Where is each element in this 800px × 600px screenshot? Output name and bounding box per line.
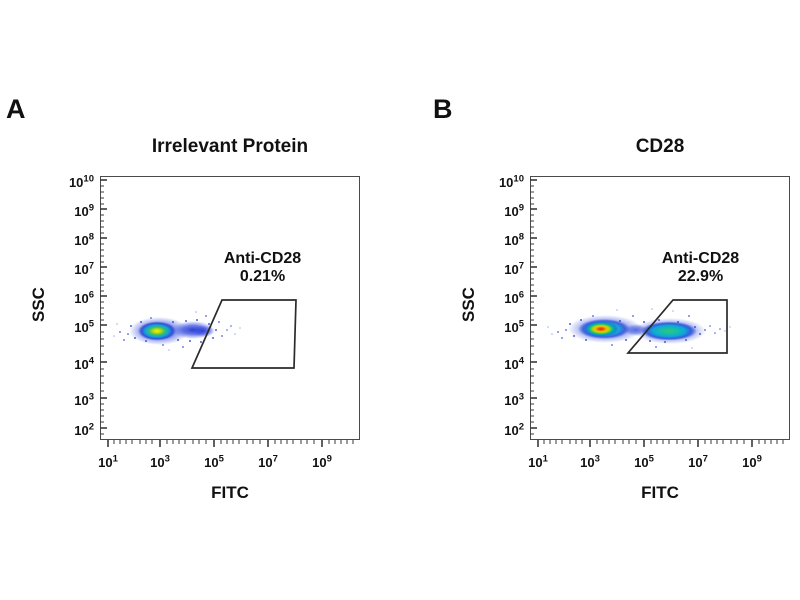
- panel-b-ytick-9: 109: [478, 205, 524, 218]
- panel-a-ytick-4: 104: [48, 358, 94, 371]
- panel-b-ytick-7: 107: [478, 263, 524, 276]
- panel-a-ytick-10: 1010: [48, 176, 94, 189]
- panel-b-gate-percent: 22.9%: [678, 268, 723, 285]
- panel-a-gate-name: Anti-CD28: [224, 250, 301, 267]
- panel-a-ytick-6: 106: [48, 292, 94, 305]
- panel-b-ytick-4: 104: [478, 358, 524, 371]
- panel-a-gate-label: Anti-CD28 0.21%: [190, 250, 335, 286]
- panel-b-y-axis-label: SSC: [460, 282, 480, 322]
- panel-a-ytick-5: 105: [48, 321, 94, 334]
- panel-a-x-axis-label: FITC: [150, 484, 310, 501]
- panel-a-xtick-9: 109: [299, 456, 345, 469]
- panel-a: A Irrelevant Protein SSC FITC 1010 109 1…: [0, 0, 400, 600]
- panel-a-ytick-3: 103: [48, 394, 94, 407]
- panel-b-gate-name: Anti-CD28: [662, 250, 739, 267]
- panel-b-xtick-1: 101: [515, 456, 561, 469]
- panel-b-gate-label: Anti-CD28 22.9%: [628, 250, 773, 286]
- panel-b-xtick-9: 109: [729, 456, 775, 469]
- panel-b-title: CD28: [530, 137, 790, 156]
- panel-b-ytick-6: 106: [478, 292, 524, 305]
- panel-a-ytick-9: 109: [48, 205, 94, 218]
- panel-a-plot-area[interactable]: [100, 176, 360, 440]
- panel-b-ytick-5: 105: [478, 321, 524, 334]
- panel-b-x-axis-label: FITC: [580, 484, 740, 501]
- panel-a-gate-percent: 0.21%: [240, 268, 285, 285]
- panel-b-xtick-7: 107: [675, 456, 721, 469]
- panel-a-ytick-7: 107: [48, 263, 94, 276]
- panel-b-ytick-10: 1010: [478, 176, 524, 189]
- panel-letter-b: B: [433, 96, 453, 123]
- panel-a-xtick-7: 107: [245, 456, 291, 469]
- panel-a-xtick-3: 103: [137, 456, 183, 469]
- panel-a-ytick-2: 102: [48, 424, 94, 437]
- panel-b-plot-area[interactable]: [530, 176, 790, 440]
- panel-a-ytick-8: 108: [48, 234, 94, 247]
- panel-letter-a: A: [6, 96, 26, 123]
- panel-b-ytick-8: 108: [478, 234, 524, 247]
- panel-b: B CD28 SSC FITC 1010 109 108 107 106 105…: [400, 0, 800, 600]
- panel-b-xtick-3: 103: [567, 456, 613, 469]
- panel-b-ytick-3: 103: [478, 394, 524, 407]
- panel-a-y-axis-label: SSC: [30, 282, 50, 322]
- panel-a-title: Irrelevant Protein: [100, 137, 360, 156]
- flow-cytometry-figure: A Irrelevant Protein SSC FITC 1010 109 1…: [0, 0, 800, 600]
- panel-b-ytick-2: 102: [478, 424, 524, 437]
- panel-a-xtick-5: 105: [191, 456, 237, 469]
- panel-b-xtick-5: 105: [621, 456, 667, 469]
- panel-a-xtick-1: 101: [85, 456, 131, 469]
